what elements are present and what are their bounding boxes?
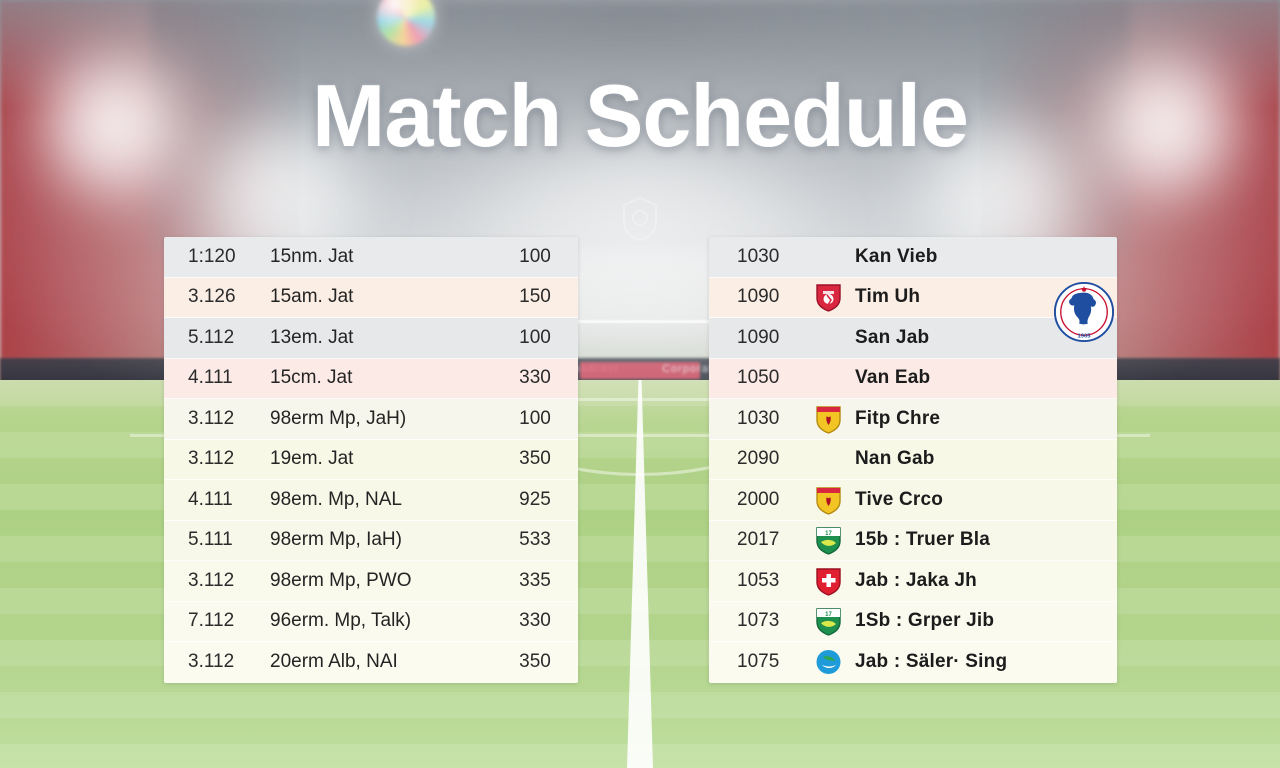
row-time: 3.126 — [164, 286, 270, 308]
table-row[interactable]: 3.12615am. Jat150 — [164, 278, 578, 319]
row-team-name: Nan Gab — [855, 448, 1043, 470]
row-team-name: 1Sb : Grper Jib — [855, 610, 1043, 632]
gold-shield-crest-icon[interactable] — [801, 404, 855, 434]
page-title: Match Schedule — [0, 72, 1280, 160]
row-value: 100 — [492, 246, 578, 268]
row-detail: 98erm Mp, IaH) — [270, 529, 492, 551]
row-time: 1:120 — [164, 246, 270, 268]
table-row[interactable]: 3.11220erm Alb, NAI350 — [164, 642, 578, 683]
row-value: 150 — [492, 286, 578, 308]
row-team-name: 15b : Truer Bla — [855, 529, 1043, 551]
lion-circle-crest-icon[interactable]: ★ 1905 — [1053, 281, 1115, 343]
row-time: 3.112 — [164, 651, 270, 673]
row-time: 1030 — [709, 408, 801, 430]
table-row[interactable]: 5.11213em. Jat100 — [164, 318, 578, 359]
table-row[interactable]: 7.11296erm. Mp, Talk)330 — [164, 602, 578, 643]
row-time: 4.111 — [164, 489, 270, 511]
row-team-name: Tim Uh — [855, 286, 1043, 308]
row-time: 1075 — [709, 651, 801, 673]
table-row[interactable]: 20171715b : Truer Bla — [709, 521, 1117, 562]
table-row[interactable]: 2090Nan Gab — [709, 440, 1117, 481]
table-row[interactable]: 1030Fitp Chre — [709, 399, 1117, 440]
table-row[interactable]: 2000Tive Crco — [709, 480, 1117, 521]
table-row[interactable]: 1:12015nm. Jat100 — [164, 237, 578, 278]
row-detail: 20erm Alb, NAI — [270, 651, 492, 673]
row-time: 2090 — [709, 448, 801, 470]
swiss-shield-crest-icon[interactable] — [801, 566, 855, 596]
row-time: 1090 — [709, 327, 801, 349]
row-time: 2000 — [709, 489, 801, 511]
row-team-name: Jab : Jaka Jh — [855, 570, 1043, 592]
schedule-tables: 1:12015nm. Jat1003.12615am. Jat1505.1121… — [0, 237, 1280, 687]
row-time: 1050 — [709, 367, 801, 389]
row-team-name: San Jab — [855, 327, 1043, 349]
table-row[interactable]: 1075Jab : Säler· Sing — [709, 642, 1117, 683]
row-value: 330 — [492, 367, 578, 389]
row-time: 3.112 — [164, 570, 270, 592]
featured-badge-wrapper[interactable]: ★ 1905 — [1053, 281, 1115, 343]
table-row[interactable]: 1053Jab : Jaka Jh — [709, 561, 1117, 602]
row-team-name: Kan Vieb — [855, 246, 1043, 268]
table-row[interactable]: 4.11115cm. Jat330 — [164, 359, 578, 400]
gold-shield-crest-icon[interactable] — [801, 485, 855, 515]
row-value: 350 — [492, 651, 578, 673]
row-team-name: Tive Crco — [855, 489, 1043, 511]
row-detail: 15cm. Jat — [270, 367, 492, 389]
row-time: 1053 — [709, 570, 801, 592]
row-detail: 98erm Mp, JaH) — [270, 408, 492, 430]
row-value: 330 — [492, 610, 578, 632]
row-value: 533 — [492, 529, 578, 551]
row-detail: 96erm. Mp, Talk) — [270, 610, 492, 632]
table-row[interactable]: 5.11198erm Mp, IaH)533 — [164, 521, 578, 562]
row-time: 7.112 — [164, 610, 270, 632]
row-value: 100 — [492, 327, 578, 349]
table-row[interactable]: 1073171Sb : Grper Jib — [709, 602, 1117, 643]
row-time: 2017 — [709, 529, 801, 551]
row-value: 335 — [492, 570, 578, 592]
row-team-name: Fitp Chre — [855, 408, 1043, 430]
svg-text:1905: 1905 — [1078, 334, 1092, 340]
row-time: 1090 — [709, 286, 801, 308]
table-row[interactable]: 4.11198em. Mp, NAL925 — [164, 480, 578, 521]
row-value: 925 — [492, 489, 578, 511]
fixtures-left-table: 1:12015nm. Jat1003.12615am. Jat1505.1121… — [164, 237, 578, 683]
blue-circle-crest-icon[interactable] — [801, 647, 855, 677]
row-detail: 98erm Mp, PWO — [270, 570, 492, 592]
table-row[interactable]: 3.11219em. Jat350 — [164, 440, 578, 481]
row-detail: 98em. Mp, NAL — [270, 489, 492, 511]
competition-logo-icon — [620, 196, 660, 242]
row-time: 3.112 — [164, 448, 270, 470]
table-row[interactable]: 3.11298erm Mp, PWO335 — [164, 561, 578, 602]
svg-text:★: ★ — [1080, 286, 1087, 293]
row-time: 1030 — [709, 246, 801, 268]
row-value: 100 — [492, 408, 578, 430]
row-time: 3.112 — [164, 408, 270, 430]
svg-text:17: 17 — [825, 612, 832, 618]
green-shield-crest-icon[interactable]: 17 — [801, 606, 855, 636]
row-team-name: Jab : Säler· Sing — [855, 651, 1043, 673]
row-time: 5.112 — [164, 327, 270, 349]
table-row[interactable]: 3.11298erm Mp, JaH)100 — [164, 399, 578, 440]
row-detail: 15am. Jat — [270, 286, 492, 308]
row-team-name: Van Eab — [855, 367, 1043, 389]
row-value: 350 — [492, 448, 578, 470]
green-shield-crest-icon[interactable]: 17 — [801, 525, 855, 555]
table-row[interactable]: 1050Van Eab — [709, 359, 1117, 400]
red-shield-crest-icon[interactable] — [801, 282, 855, 312]
row-time: 5.111 — [164, 529, 270, 551]
row-time: 1073 — [709, 610, 801, 632]
table-row[interactable]: 1030Kan Vieb — [709, 237, 1117, 278]
fixtures-right-table: ★ 1905 1030Kan Vieb1090Tim Uh1090San Jab… — [709, 237, 1117, 683]
row-detail: 19em. Jat — [270, 448, 492, 470]
row-detail: 13em. Jat — [270, 327, 492, 349]
svg-text:17: 17 — [825, 531, 832, 537]
row-detail: 15nm. Jat — [270, 246, 492, 268]
row-time: 4.111 — [164, 367, 270, 389]
